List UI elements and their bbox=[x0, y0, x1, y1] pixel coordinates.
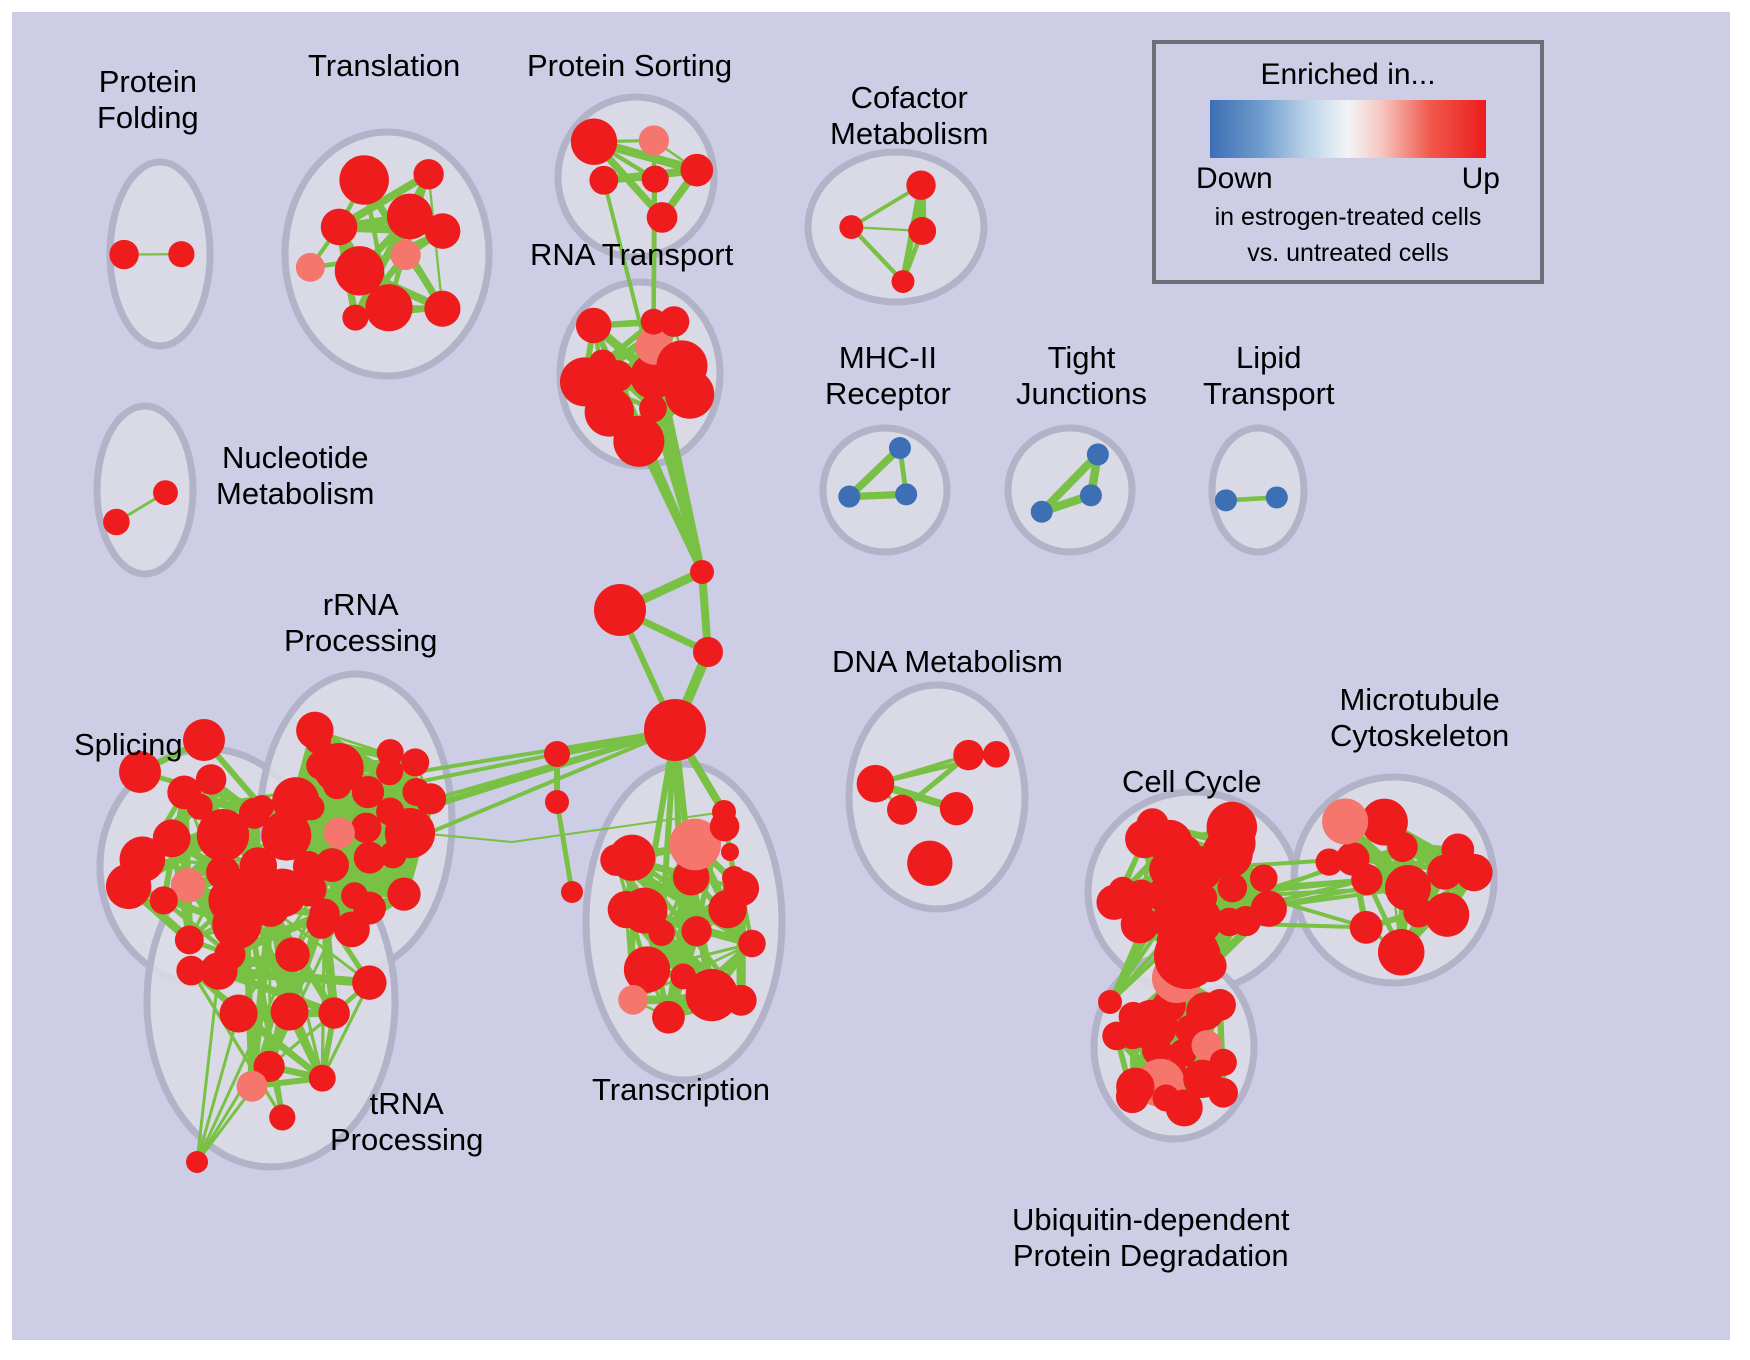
cluster-label-splicing: Splicing bbox=[74, 727, 183, 763]
cluster-label-transcription: Transcription bbox=[592, 1072, 770, 1108]
network-node bbox=[385, 808, 435, 858]
network-node bbox=[1266, 486, 1288, 508]
network-node bbox=[680, 154, 713, 187]
network-node bbox=[1166, 1089, 1203, 1126]
network-node bbox=[168, 241, 194, 267]
network-node bbox=[608, 891, 645, 928]
cluster-label-tight-junctions: Tight Junctions bbox=[1016, 340, 1147, 412]
network-node bbox=[228, 868, 263, 903]
network-node bbox=[561, 881, 583, 903]
network-node bbox=[390, 240, 420, 270]
network-node bbox=[571, 119, 617, 165]
network-node bbox=[1096, 885, 1131, 920]
network-node bbox=[183, 719, 225, 761]
network-node bbox=[887, 795, 917, 825]
network-node bbox=[309, 899, 340, 930]
legend-color-bar bbox=[1210, 100, 1486, 158]
network-node bbox=[647, 202, 678, 233]
cluster-ellipse-tight-junctions bbox=[1008, 428, 1132, 552]
network-node bbox=[722, 866, 746, 890]
network-node bbox=[261, 811, 311, 861]
network-node bbox=[560, 357, 609, 406]
network-node bbox=[618, 985, 648, 1015]
cluster-label-trna-processing: tRNA Processing bbox=[330, 1086, 483, 1158]
network-node bbox=[639, 125, 669, 155]
network-node bbox=[1102, 1022, 1131, 1051]
network-node bbox=[600, 844, 632, 876]
network-node bbox=[892, 270, 915, 293]
network-node bbox=[1136, 808, 1168, 840]
network-node bbox=[1215, 489, 1237, 511]
network-node bbox=[1098, 990, 1122, 1014]
network-node bbox=[109, 240, 138, 269]
network-node bbox=[544, 741, 570, 767]
network-node bbox=[196, 764, 227, 795]
network-node bbox=[1204, 989, 1236, 1021]
network-node bbox=[1210, 1049, 1237, 1076]
network-node bbox=[1087, 443, 1109, 465]
network-node bbox=[106, 864, 151, 909]
network-node bbox=[339, 155, 389, 205]
network-node bbox=[342, 305, 368, 331]
network-node bbox=[318, 997, 349, 1028]
legend-subline-1: in estrogen-treated cells bbox=[1156, 202, 1540, 232]
network-node bbox=[424, 291, 460, 327]
network-node bbox=[681, 916, 711, 946]
network-node bbox=[415, 783, 446, 814]
network-node bbox=[1455, 854, 1492, 891]
network-node bbox=[296, 712, 333, 749]
network-node bbox=[613, 416, 664, 467]
cluster-label-translation: Translation bbox=[308, 48, 460, 84]
network-node bbox=[983, 741, 1010, 768]
network-node bbox=[1316, 849, 1343, 876]
cluster-label-protein-sorting: Protein Sorting bbox=[527, 48, 732, 84]
figure-root: Protein FoldingTranslationNucleotide Met… bbox=[0, 0, 1750, 1360]
network-node bbox=[377, 739, 404, 766]
cluster-label-cofactor-metabolism: Cofactor Metabolism bbox=[830, 80, 989, 152]
network-node bbox=[1207, 802, 1258, 853]
network-node bbox=[425, 213, 461, 249]
network-node bbox=[1208, 1078, 1238, 1108]
network-node bbox=[1350, 911, 1383, 944]
cluster-label-dna-metabolism: DNA Metabolism bbox=[832, 644, 1063, 680]
network-node bbox=[1322, 798, 1368, 844]
network-node bbox=[1116, 1080, 1149, 1113]
network-node bbox=[175, 925, 204, 954]
legend-low-label: Down bbox=[1196, 162, 1273, 196]
network-node bbox=[413, 159, 443, 189]
network-canvas: Protein FoldingTranslationNucleotide Met… bbox=[12, 12, 1730, 1340]
network-node bbox=[889, 437, 911, 459]
cluster-label-mhc-ii-receptor: MHC-II Receptor bbox=[825, 340, 951, 412]
network-node bbox=[150, 886, 178, 914]
network-node bbox=[659, 306, 690, 337]
network-node bbox=[186, 1151, 208, 1173]
network-node bbox=[323, 817, 354, 848]
network-node bbox=[712, 800, 736, 824]
legend-title: Enriched in... bbox=[1156, 58, 1540, 92]
network-node bbox=[153, 480, 178, 505]
network-node bbox=[594, 584, 646, 636]
network-node bbox=[1031, 501, 1053, 523]
network-node bbox=[738, 930, 766, 958]
legend-box: Enriched in... Down Up in estrogen-treat… bbox=[1152, 40, 1544, 284]
cluster-label-nucleotide-metabolism: Nucleotide Metabolism bbox=[216, 440, 375, 512]
network-node bbox=[365, 284, 412, 331]
cluster-label-rrna-processing: rRNA Processing bbox=[284, 587, 437, 659]
network-node bbox=[176, 956, 206, 986]
network-node bbox=[690, 560, 714, 584]
cluster-label-rna-transport: RNA Transport bbox=[530, 237, 733, 273]
network-node bbox=[103, 509, 130, 536]
network-node bbox=[387, 877, 420, 910]
network-node bbox=[1154, 923, 1220, 989]
network-node bbox=[721, 843, 739, 861]
network-node bbox=[296, 253, 325, 282]
cluster-label-lipid-transport: Lipid Transport bbox=[1203, 340, 1335, 412]
network-node bbox=[237, 1071, 268, 1102]
network-node bbox=[693, 637, 723, 667]
network-node bbox=[726, 985, 757, 1016]
cluster-label-ubiquitin-protein-degradation: Ubiquitin-dependent Protein Degradation bbox=[1012, 1202, 1290, 1274]
network-node bbox=[1378, 929, 1425, 976]
network-node bbox=[1251, 891, 1287, 927]
network-node bbox=[250, 795, 274, 819]
network-node bbox=[895, 483, 917, 505]
network-node bbox=[220, 994, 258, 1032]
network-node bbox=[306, 751, 335, 780]
network-node bbox=[1080, 484, 1102, 506]
network-node bbox=[576, 308, 611, 343]
network-node bbox=[271, 993, 309, 1031]
network-node bbox=[644, 699, 706, 761]
network-node bbox=[908, 217, 936, 245]
legend-high-label: Up bbox=[1462, 162, 1500, 196]
network-node bbox=[953, 740, 983, 770]
network-node bbox=[275, 937, 310, 972]
network-node bbox=[940, 792, 973, 825]
network-node bbox=[1425, 892, 1469, 936]
network-node bbox=[589, 166, 618, 195]
network-node bbox=[642, 165, 669, 192]
network-node bbox=[401, 748, 429, 776]
network-node bbox=[906, 170, 935, 199]
network-edge bbox=[557, 802, 572, 892]
network-node bbox=[652, 1001, 685, 1034]
network-node bbox=[269, 1104, 295, 1130]
network-node bbox=[545, 790, 569, 814]
network-node bbox=[321, 209, 358, 246]
network-node bbox=[1250, 864, 1278, 892]
network-node bbox=[857, 765, 895, 803]
network-node bbox=[839, 215, 863, 239]
cluster-ellipse-nucleotide-metabolism bbox=[97, 406, 193, 574]
cluster-label-protein-folding: Protein Folding bbox=[97, 64, 199, 136]
legend-subline-2: vs. untreated cells bbox=[1156, 238, 1540, 268]
cluster-label-cell-cycle: Cell Cycle bbox=[1122, 764, 1262, 800]
network-node bbox=[351, 813, 381, 843]
network-node bbox=[665, 370, 714, 419]
network-node bbox=[838, 486, 860, 508]
network-node bbox=[352, 965, 386, 999]
cluster-label-microtubule-cytoskeleton: Microtubule Cytoskeleton bbox=[1330, 682, 1509, 754]
network-node bbox=[907, 841, 952, 886]
